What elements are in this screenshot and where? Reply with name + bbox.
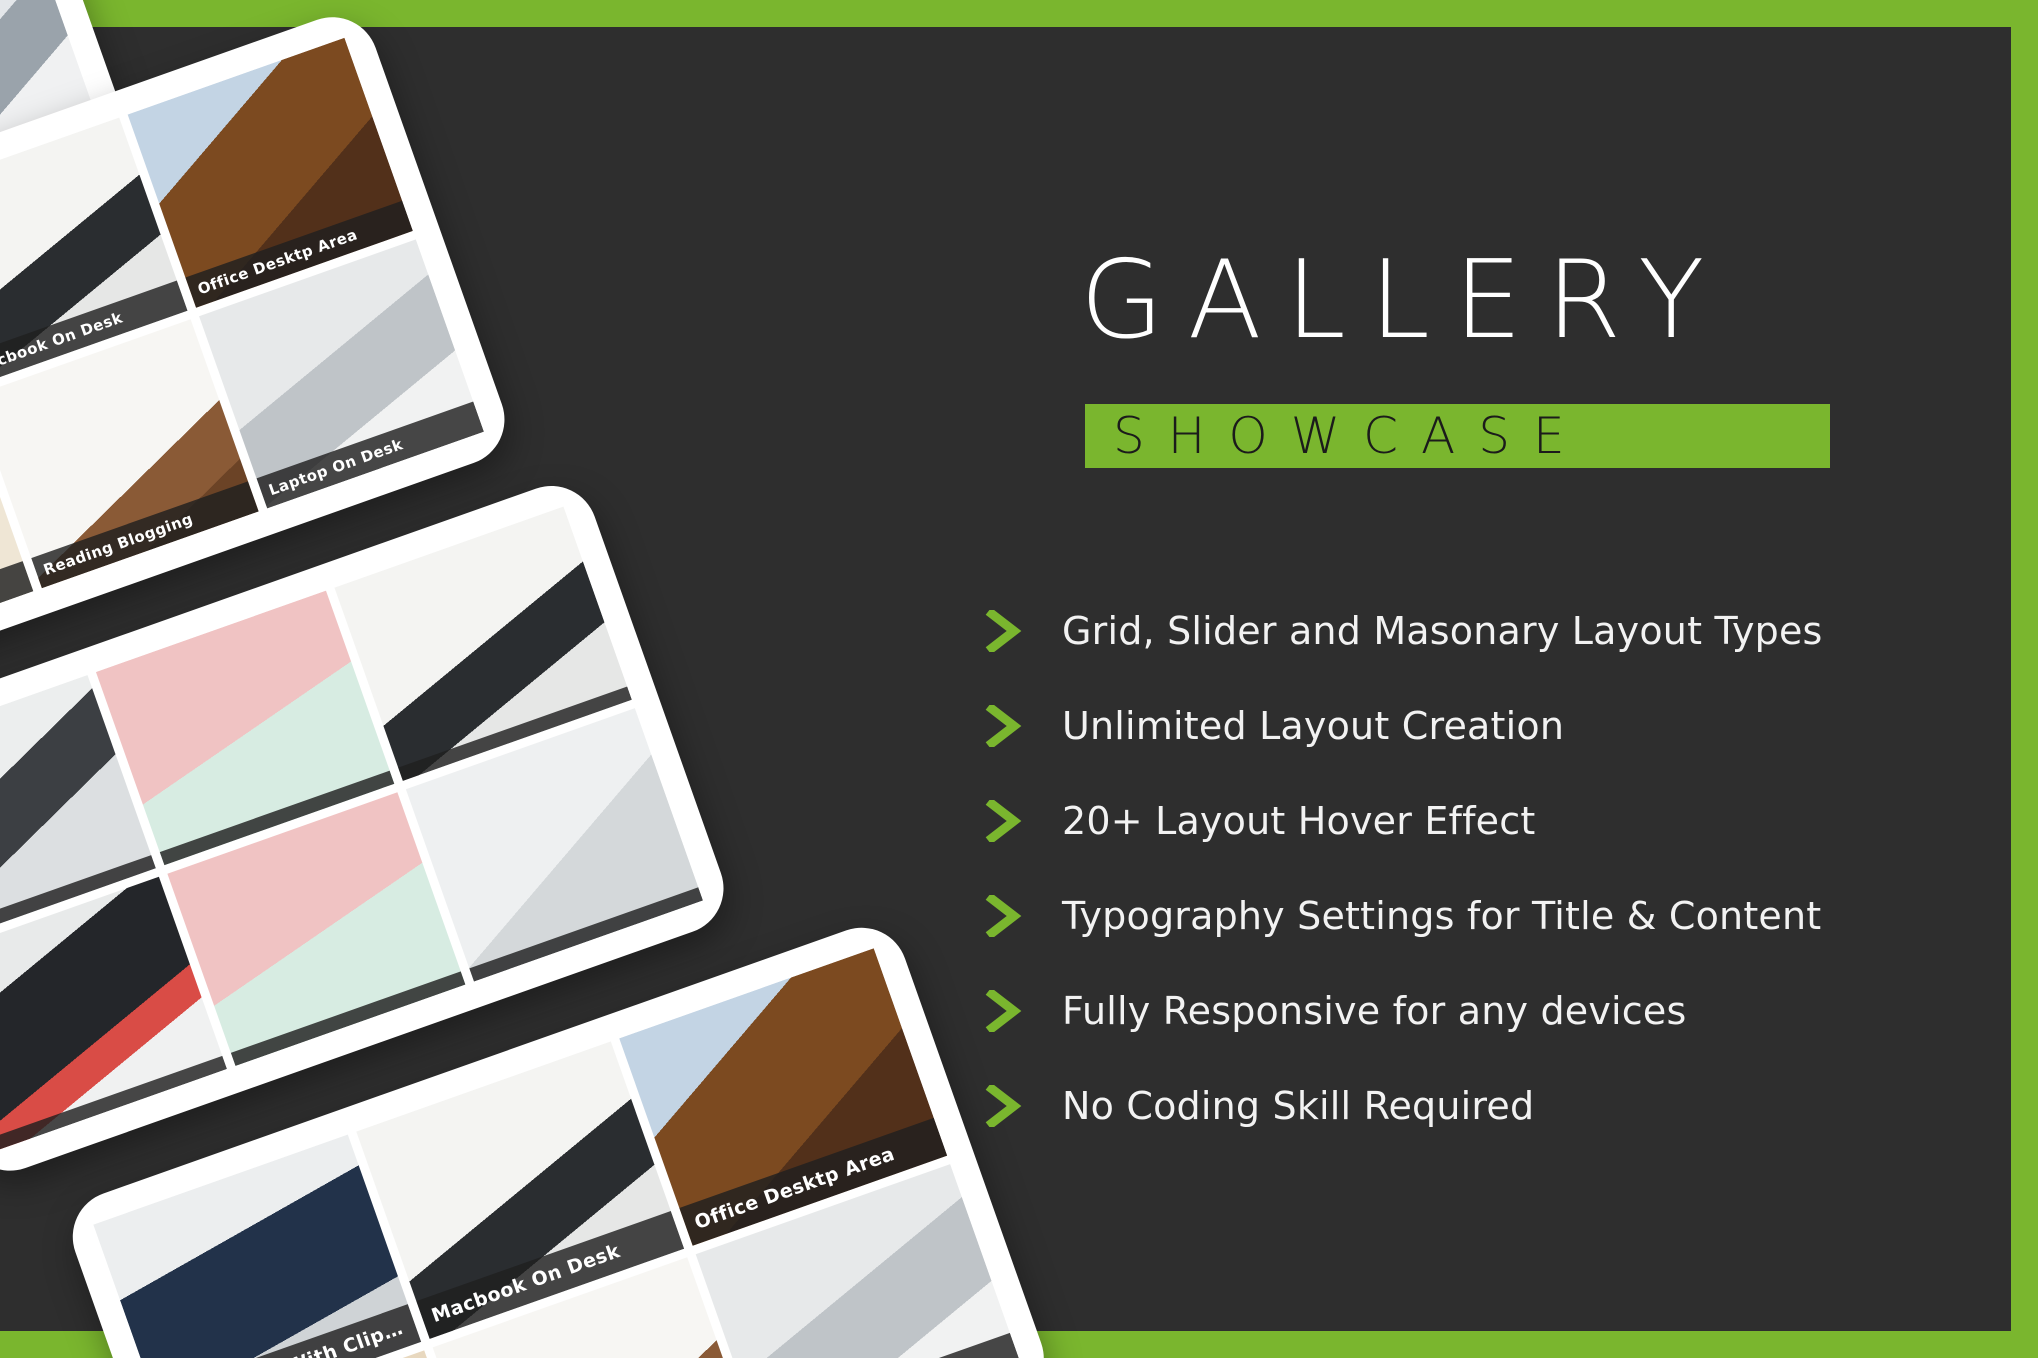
content-column: GALLERY SHOWCASE Grid, Slider and Masona… <box>1080 0 1980 1358</box>
feature-label: No Coding Skill Required <box>1062 1084 1534 1128</box>
feature-item: 20+ Layout Hover Effect <box>984 773 1984 868</box>
tile-caption: Laptop On Desk <box>755 1333 1023 1358</box>
chevron-right-icon <box>984 895 1024 937</box>
poster-canvas: Homepage With Clipart Macbook On Desk Of… <box>0 0 2038 1358</box>
tile-caption <box>231 972 465 1066</box>
page-title: GALLERY <box>1080 247 1728 355</box>
feature-label: Typography Settings for Title & Content <box>1062 894 1821 938</box>
tile-caption <box>469 887 703 981</box>
feature-item: No Coding Skill Required <box>984 1058 1984 1153</box>
feature-label: 20+ Layout Hover Effect <box>1062 799 1535 843</box>
feature-label: Unlimited Layout Creation <box>1062 704 1564 748</box>
chevron-right-icon <box>984 610 1024 652</box>
chevron-right-icon <box>984 1085 1024 1127</box>
subtitle-band: SHOWCASE <box>1085 404 1830 468</box>
chevron-right-icon <box>984 990 1024 1032</box>
chevron-right-icon <box>984 705 1024 747</box>
tile-caption: Homepage With Clipart <box>153 1304 421 1358</box>
tile-caption: Laptop On Desk <box>256 402 483 509</box>
page-subtitle: SHOWCASE <box>1085 411 1588 461</box>
tile-caption: Writing In Book <box>0 561 33 668</box>
feature-item: Typography Settings for Title & Content <box>984 868 1984 963</box>
feature-list: Grid, Slider and Masonary Layout Types U… <box>984 583 1984 1153</box>
feature-item: Fully Responsive for any devices <box>984 963 1984 1058</box>
tile-caption: Reading Blogging <box>31 481 258 588</box>
feature-item: Unlimited Layout Creation <box>984 678 1984 773</box>
feature-label: Fully Responsive for any devices <box>1062 989 1686 1033</box>
feature-item: Grid, Slider and Masonary Layout Types <box>984 583 1984 678</box>
feature-label: Grid, Slider and Masonary Layout Types <box>1062 609 1823 653</box>
tile-caption <box>0 1056 227 1150</box>
chevron-right-icon <box>984 800 1024 842</box>
